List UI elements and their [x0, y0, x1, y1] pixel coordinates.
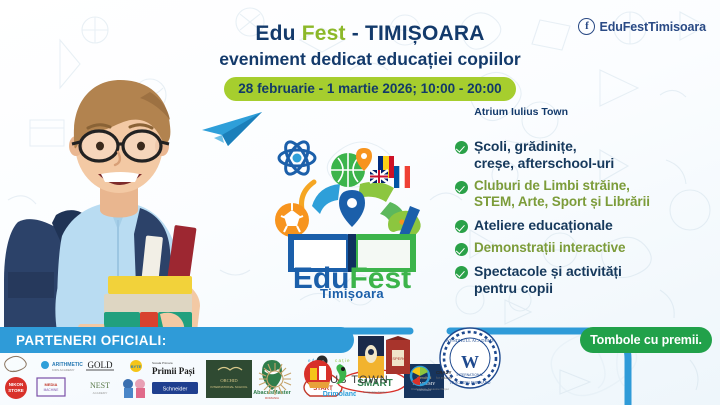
svg-text:INTERNATIONAL SCHOOL: INTERNATIONAL SCHOOL: [210, 385, 248, 389]
list-item: Ateliere educaționale: [455, 217, 713, 234]
list-item-label: Ateliere educaționale: [474, 217, 613, 234]
logo-city-label: Timișoara: [252, 286, 452, 301]
svg-text:WENDHULL ACADEMY: WENDHULL ACADEMY: [446, 338, 496, 343]
check-circle-icon: [455, 141, 468, 154]
svg-text:TEACHING FORWARD: TEACHING FORWARD: [450, 380, 491, 385]
svg-text:Schneider: Schneider: [163, 387, 188, 393]
tombola-label: Tombole cu premii.: [590, 333, 702, 347]
title-suffix: - TIMIȘOARA: [346, 22, 485, 45]
svg-text:CRAZY: CRAZY: [436, 370, 452, 375]
list-item-label: Demonstrații interactive: [474, 240, 625, 256]
partners-label: PARTENERI OFICIALI:: [0, 333, 167, 348]
svg-text:radio: radio: [10, 369, 17, 373]
svg-text:ACADEMY: ACADEMY: [93, 391, 108, 395]
tombola-button[interactable]: Tombole cu premii.: [580, 327, 712, 353]
list-item-line2: pentru copii: [474, 280, 553, 296]
svg-text:STORE: STORE: [8, 388, 23, 393]
page-subtitle: eveniment dedicat educației copiilor: [160, 49, 580, 70]
list-item-label: Cluburi de Limbi străine, STEM, Arte, Sp…: [474, 178, 650, 210]
list-item-line1: Școli, grădinițe,: [474, 138, 577, 154]
svg-text:W: W: [461, 352, 479, 372]
svg-text:MACHINE: MACHINE: [44, 388, 59, 392]
svg-text:NIKON: NIKON: [9, 382, 24, 387]
list-item: Școli, grădinițe, crеșe, afterschool-uri: [455, 138, 713, 171]
svg-text:Scoala Primara: Scoala Primara: [152, 361, 173, 365]
facebook-icon: f: [578, 18, 595, 35]
check-circle-icon: [455, 243, 468, 256]
partner-logo-drimoland: Drimoland: [300, 358, 356, 402]
svg-text:for education: for education: [436, 376, 452, 380]
svg-text:KIDS ACADEMY: KIDS ACADEMY: [52, 368, 75, 372]
svg-text:BYTE: BYTE: [131, 364, 142, 369]
svg-text:GOLD: GOLD: [88, 360, 113, 370]
edufest-logo: EduFest: [252, 130, 452, 295]
svg-text:Drimoland: Drimoland: [323, 391, 356, 398]
facebook-handle-label: EduFestTimisoara: [599, 20, 706, 34]
svg-text:INTERNATIONAL: INTERNATIONAL: [457, 373, 484, 377]
list-item-line1: Spectacole și activități: [474, 263, 622, 279]
event-date-badge: 28 februarie - 1 martie 2026; 10:00 - 20…: [224, 77, 515, 101]
facebook-handle[interactable]: f EduFestTimisoara: [578, 18, 706, 35]
check-circle-icon: [455, 220, 468, 233]
list-item-line1: Cluburi de Limbi străine,: [474, 178, 630, 193]
list-item-line2: STEM, Arte, Sport și Librării: [474, 194, 650, 209]
title-highlight: Fest: [302, 22, 346, 45]
event-poster: f EduFestTimisoara Edu Fest - TIMIȘOARA …: [0, 0, 720, 405]
feature-list: Școli, grădinițe, crеșe, afterschool-uri…: [455, 138, 713, 303]
page-title: Edu Fest - TIMIȘOARA: [160, 22, 580, 46]
list-item: Cluburi de Limbi străine, STEM, Arte, Sp…: [455, 178, 713, 210]
list-item-label: Școli, grădinițe, crеșe, afterschool-uri: [474, 138, 614, 171]
title-prefix: Edu: [255, 22, 295, 45]
svg-text:NEST: NEST: [90, 381, 110, 390]
list-item-label: Spectacole și activități pentru copii: [474, 263, 622, 296]
check-circle-icon: [455, 266, 468, 279]
list-item-line2: crеșe, afterschool-uri: [474, 155, 614, 171]
check-circle-icon: [455, 181, 468, 194]
svg-text:Primii Pași: Primii Pași: [152, 366, 195, 376]
header-block: Edu Fest - TIMIȘOARA eveniment dedicat e…: [160, 22, 580, 118]
svg-text:ORCHID: ORCHID: [220, 378, 238, 383]
svg-text:Crazy Ideas. Awesome Output: Crazy Ideas. Awesome Output: [411, 387, 449, 391]
list-item: Demonstrații interactive: [455, 240, 713, 256]
svg-text:MEDIA: MEDIA: [45, 382, 58, 387]
partners-banner: PARTENERI OFICIALI:: [0, 327, 354, 353]
list-item: Spectacole și activități pentru copii: [455, 263, 713, 296]
svg-text:ESPERO: ESPERO: [390, 356, 407, 361]
partner-logo-crazy-education: CRAZY for education Crazy Ideas. Awesome…: [408, 362, 452, 402]
